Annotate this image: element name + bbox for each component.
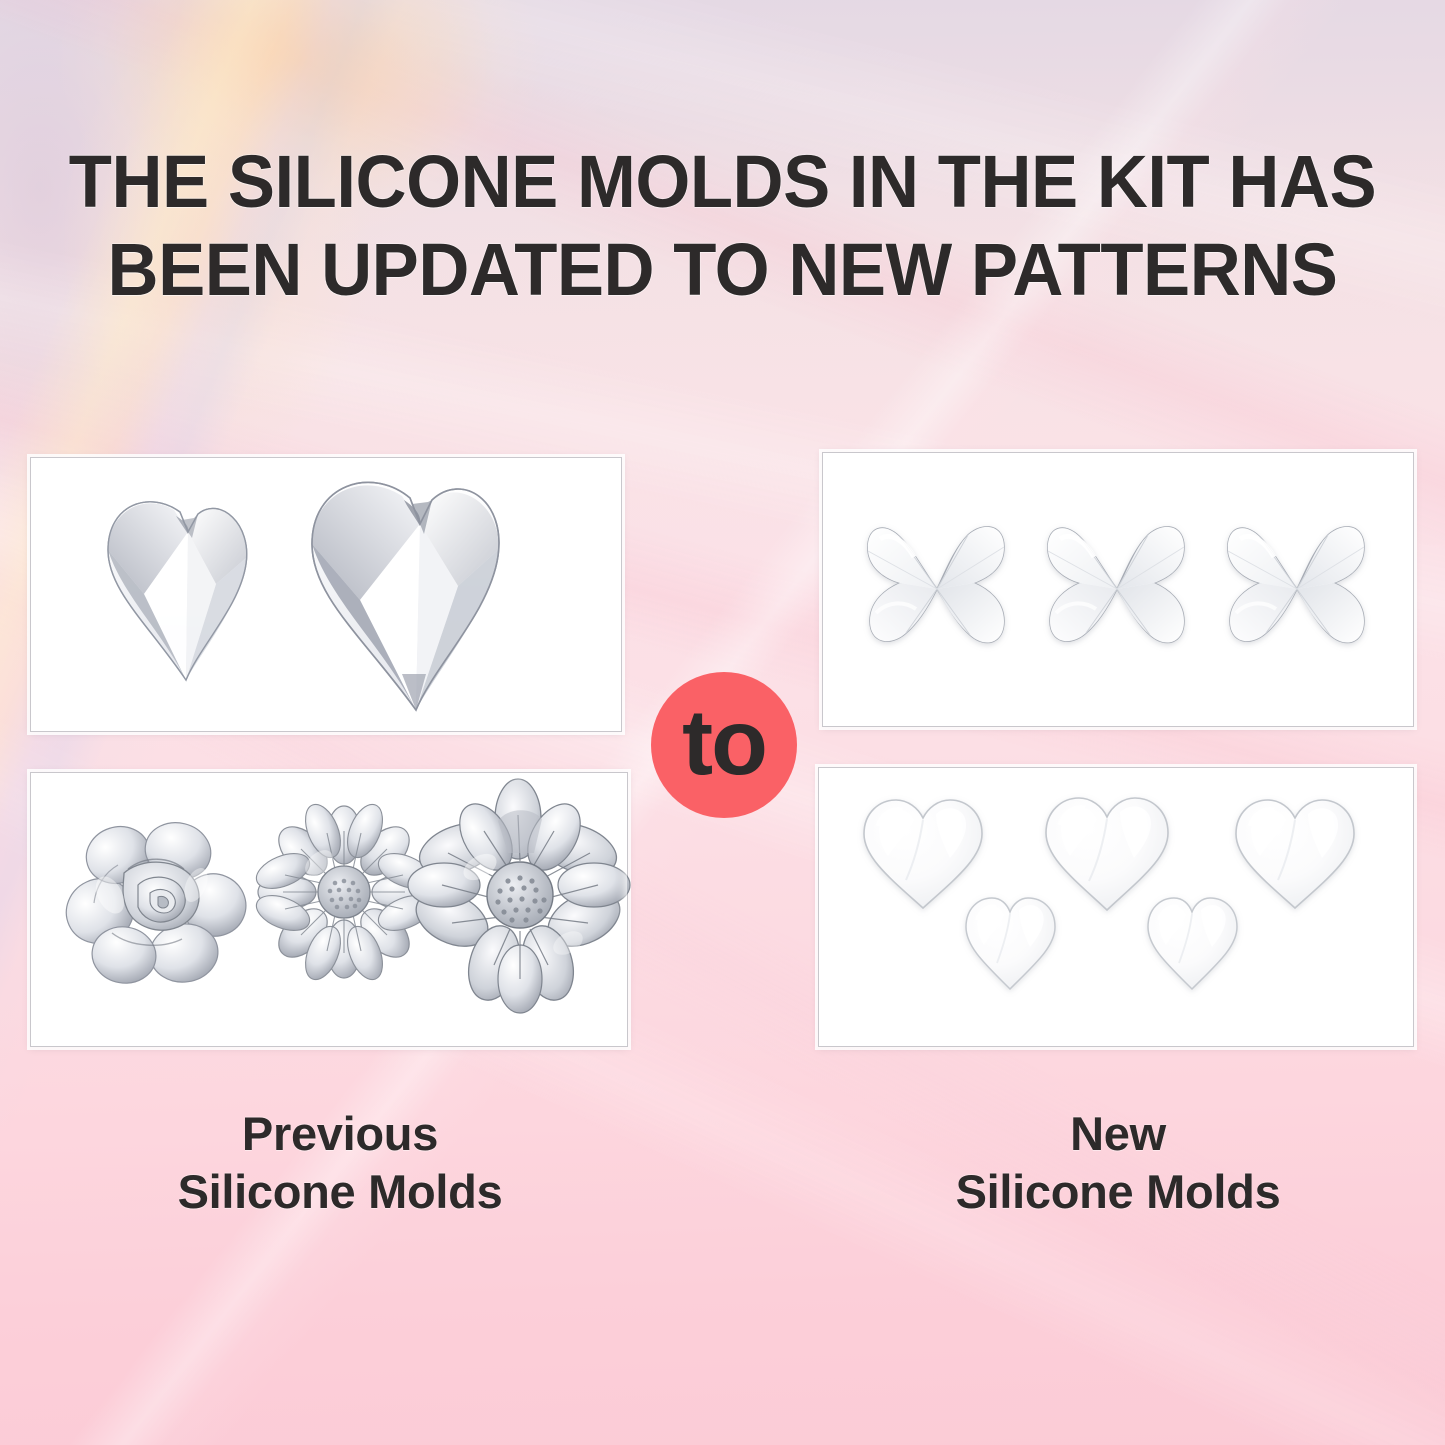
butterfly-mold-3 bbox=[1228, 526, 1364, 642]
rose-flower-shape bbox=[56, 815, 256, 987]
panel-previous-flowers-contents bbox=[31, 773, 627, 1046]
puffy-heart-large-2 bbox=[1046, 798, 1168, 910]
cosmos-flower-shape bbox=[407, 779, 630, 1013]
panel-previous-hearts-contents bbox=[31, 458, 621, 731]
butterfly-mold-2 bbox=[1048, 526, 1184, 642]
to-badge: to bbox=[651, 672, 797, 818]
puffy-heart-small-1 bbox=[966, 898, 1055, 989]
panel-new-hearts-contents bbox=[819, 768, 1413, 1046]
panel-new-hearts bbox=[818, 767, 1414, 1047]
caption-new-molds: New Silicone Molds bbox=[820, 1105, 1416, 1221]
puffy-heart-large-3 bbox=[1236, 800, 1354, 908]
puffy-heart-small-2 bbox=[1148, 898, 1237, 989]
new-butterflies-illustration bbox=[848, 495, 1388, 685]
daisy-flower-shape bbox=[251, 799, 436, 984]
puffy-heart-large-1 bbox=[864, 800, 982, 908]
previous-hearts-illustration bbox=[46, 470, 606, 720]
panel-previous-flowers bbox=[30, 772, 628, 1047]
panel-previous-hearts bbox=[30, 457, 622, 732]
panel-new-butterflies bbox=[822, 452, 1414, 727]
faceted-heart-small-shape bbox=[108, 501, 247, 679]
infographic-root: THE SILICONE MOLDS IN THE KIT HAS BEEN U… bbox=[0, 0, 1445, 1445]
page-title: THE SILICONE MOLDS IN THE KIT HAS BEEN U… bbox=[33, 138, 1413, 314]
caption-previous-molds: Previous Silicone Molds bbox=[60, 1105, 620, 1221]
butterfly-mold-1 bbox=[868, 526, 1004, 642]
previous-flowers-illustration bbox=[44, 785, 614, 1035]
to-badge-label: to bbox=[682, 696, 766, 789]
panel-new-butterflies-contents bbox=[823, 453, 1413, 726]
faceted-heart-large-shape bbox=[312, 482, 499, 710]
new-hearts-illustration bbox=[836, 782, 1396, 1032]
